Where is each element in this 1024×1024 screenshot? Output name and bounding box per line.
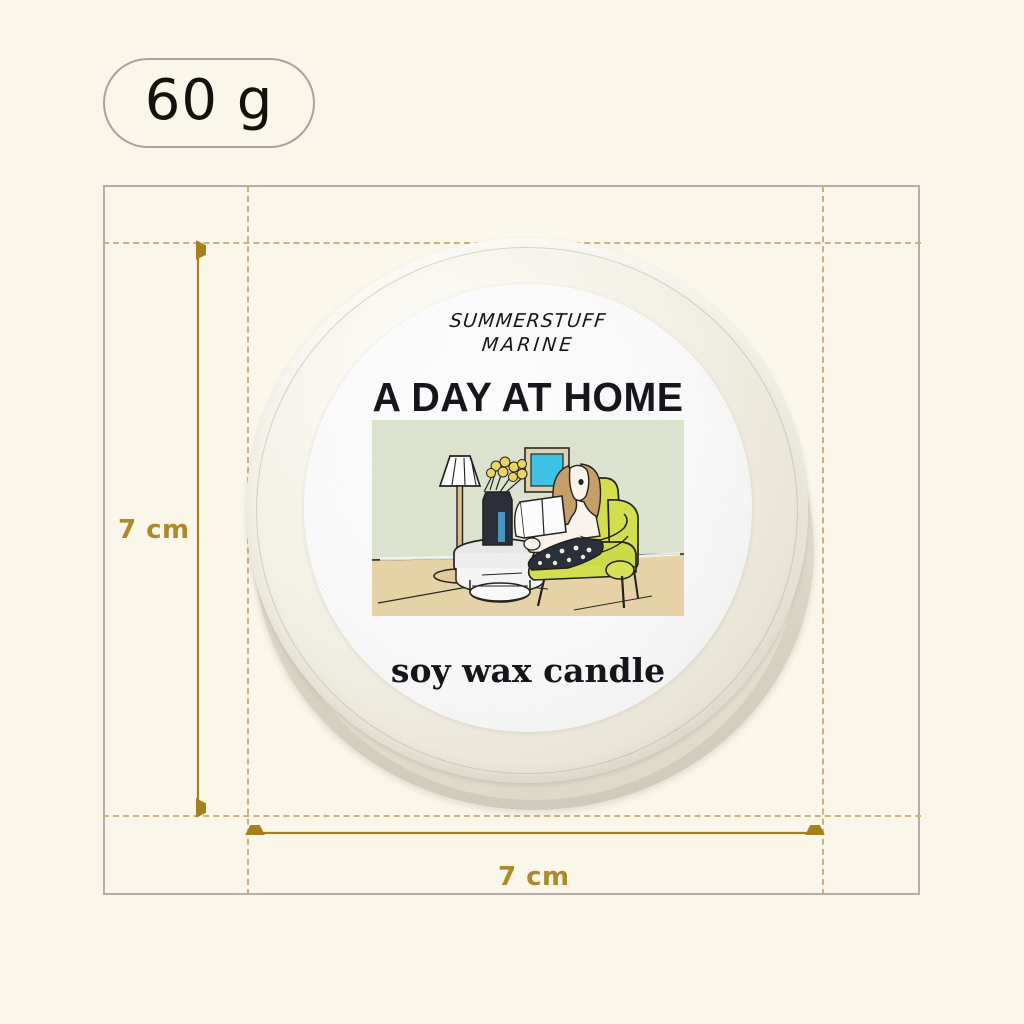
candle-tin: SUMMERSTUFF MARINE A DAY AT HOME bbox=[246, 238, 822, 818]
brand-mark: SUMMERSTUFF MARINE bbox=[304, 310, 752, 358]
tin-lid: SUMMERSTUFF MARINE A DAY AT HOME bbox=[246, 238, 808, 783]
width-dimension-arrow bbox=[245, 825, 825, 841]
brand-name-line1: SUMMERSTUFF bbox=[304, 310, 752, 334]
brand-name-line2: MARINE bbox=[304, 334, 752, 358]
height-dimension-arrow bbox=[190, 240, 206, 818]
height-dimension-label: 7 cm bbox=[118, 515, 190, 545]
product-subtitle: soy wax candle bbox=[304, 651, 752, 690]
label-illustration bbox=[372, 420, 684, 616]
width-dimension-label: 7 cm bbox=[498, 862, 570, 892]
weight-badge-label: 60 g bbox=[145, 73, 274, 133]
weight-badge: 60 g bbox=[103, 58, 315, 148]
product-title: A DAY AT HOME bbox=[313, 374, 743, 421]
product-label: SUMMERSTUFF MARINE A DAY AT HOME bbox=[304, 284, 752, 732]
